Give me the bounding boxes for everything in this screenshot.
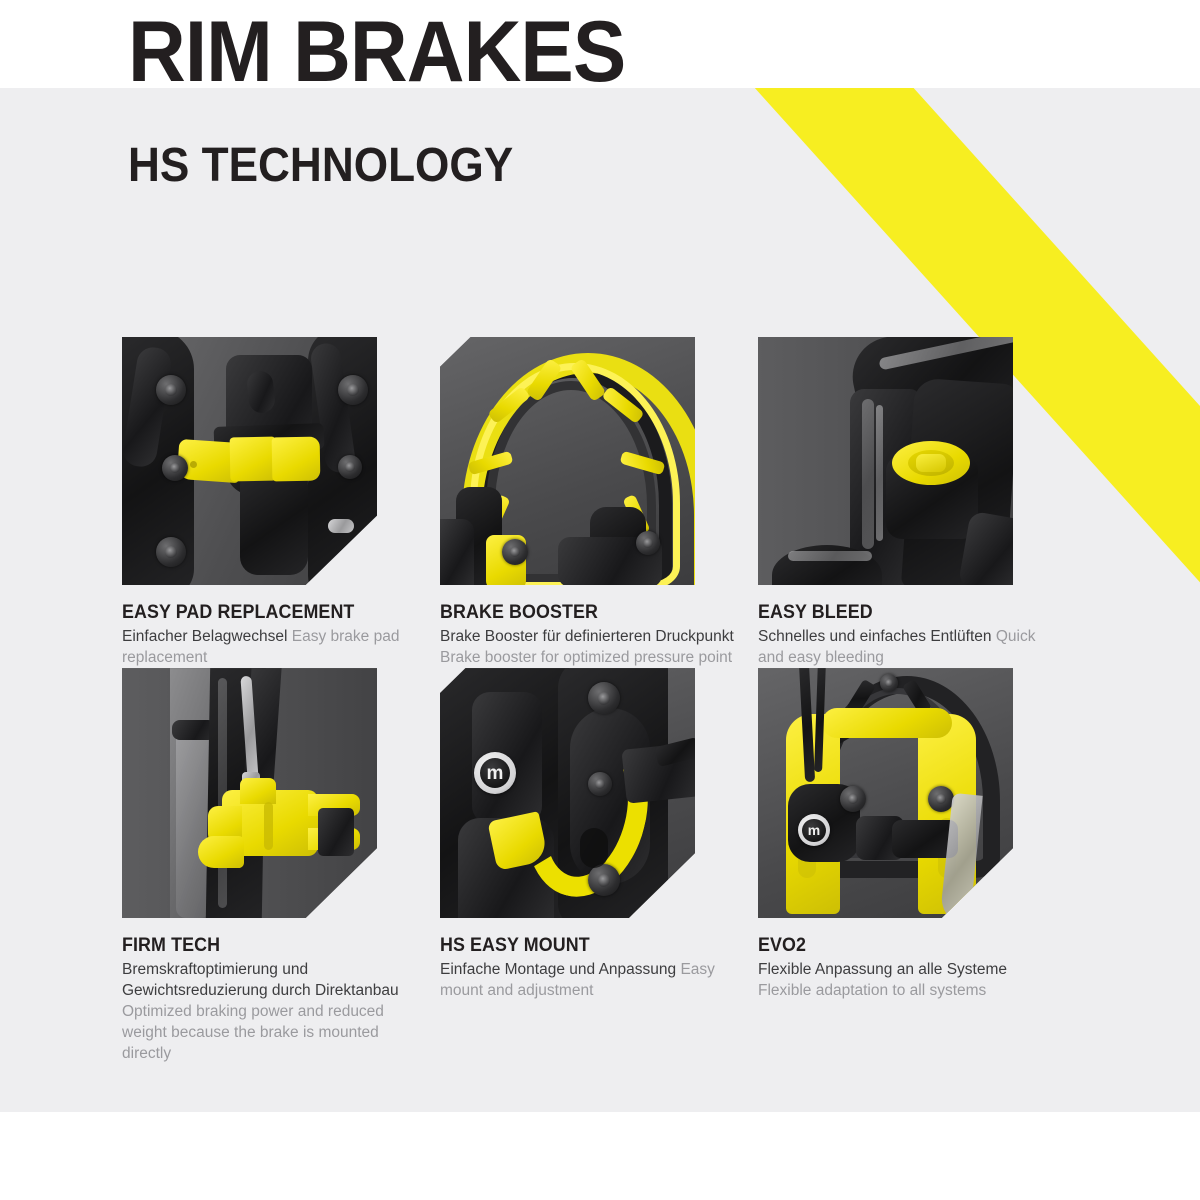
illustration-easy-mount-lever: m <box>440 668 695 918</box>
feature-description: Einfacher Belagwechsel Easy brake pad re… <box>122 626 422 668</box>
feature-heading: FIRM TECH <box>122 936 404 956</box>
feature-description: Bremskraftoptimierung und Gewichtsreduzi… <box>122 959 422 1064</box>
feature-description-de: Einfache Montage und Anpassung <box>440 961 676 978</box>
feature-caption: EASY PAD REPLACEMENT Einfacher Belagwech… <box>122 585 440 668</box>
feature-grid: EASY PAD REPLACEMENT Einfacher Belagwech… <box>122 337 1082 1064</box>
header-block: RIM BRAKES HS TECHNOLOGY <box>128 10 663 190</box>
feature-image-easy-bleed <box>758 337 1013 585</box>
photo-tile <box>122 337 377 585</box>
feature-image-evo2: m <box>758 668 1013 918</box>
magura-m-logo: m <box>798 814 830 846</box>
illustration-evo2-brake: m <box>758 668 1013 918</box>
feature-heading: EASY PAD REPLACEMENT <box>122 603 404 623</box>
feature-description-de: Schnelles und einfaches Entlüften <box>758 628 992 645</box>
feature-card-easy-bleed: EASY BLEED Schnelles und einfaches Entlü… <box>758 337 1076 668</box>
photo-tile <box>122 668 377 918</box>
feature-caption: HS EASY MOUNT Einfache Montage und Anpas… <box>440 918 758 1001</box>
feature-caption: EASY BLEED Schnelles und einfaches Entlü… <box>758 585 1076 668</box>
magura-m-logo: m <box>474 752 516 794</box>
feature-description-en: Brake booster for optimized pressure poi… <box>440 649 732 666</box>
feature-card-hs-easy-mount: m HS EASY MOUNT Einf <box>440 668 758 1064</box>
feature-heading: BRAKE BOOSTER <box>440 603 722 623</box>
feature-description-en: Optimized braking power and reduced weig… <box>122 1003 384 1062</box>
feature-description-en: Flexible adaptation to all systems <box>758 982 986 999</box>
feature-description: Schnelles und einfaches Entlüften Quick … <box>758 626 1058 668</box>
feature-card-easy-pad-replacement: EASY PAD REPLACEMENT Einfacher Belagwech… <box>122 337 440 668</box>
feature-description-de: Brake Booster für definierteren Druckpun… <box>440 628 734 645</box>
feature-image-easy-pad-replacement <box>122 337 377 585</box>
feature-description-de: Bremskraftoptimierung und Gewichtsreduzi… <box>122 961 399 999</box>
feature-caption: BRAKE BOOSTER Brake Booster für definier… <box>440 585 758 668</box>
feature-image-brake-booster <box>440 337 695 585</box>
feature-description: Flexible Anpassung an alle Systeme Flexi… <box>758 959 1058 1001</box>
feature-caption: FIRM TECH Bremskraftoptimierung und Gewi… <box>122 918 440 1064</box>
illustration-fork-crown-bleed-port <box>758 337 1013 585</box>
photo-tile <box>758 337 1013 585</box>
feature-description-de: Einfacher Belagwechsel <box>122 628 287 645</box>
feature-image-firm-tech <box>122 668 377 918</box>
illustration-brake-booster <box>440 337 695 585</box>
feature-heading: EASY BLEED <box>758 603 1040 623</box>
feature-description-de: Flexible Anpassung an alle Systeme <box>758 961 1007 978</box>
feature-card-evo2: m EVO2 Flexible Anpassung an alle System… <box>758 668 1076 1064</box>
page-title: RIM BRAKES <box>128 10 625 94</box>
infographic-root: RIM BRAKES HS TECHNOLOGY <box>0 0 1200 1200</box>
feature-image-hs-easy-mount: m <box>440 668 695 918</box>
photo-tile: m <box>758 668 1013 918</box>
feature-caption: EVO2 Flexible Anpassung an alle Systeme … <box>758 918 1076 1001</box>
feature-card-firm-tech: FIRM TECH Bremskraftoptimierung und Gewi… <box>122 668 440 1064</box>
photo-tile <box>440 337 695 585</box>
photo-tile: m <box>440 668 695 918</box>
feature-heading: HS EASY MOUNT <box>440 936 722 956</box>
feature-description: Brake Booster für definierteren Druckpun… <box>440 626 740 668</box>
page-subtitle: HS TECHNOLOGY <box>128 142 620 190</box>
illustration-direct-mount-clamp <box>122 668 377 918</box>
feature-heading: EVO2 <box>758 936 1040 956</box>
feature-card-brake-booster: BRAKE BOOSTER Brake Booster für definier… <box>440 337 758 668</box>
feature-description: Einfache Montage und Anpassung Easy moun… <box>440 959 740 1001</box>
illustration-rim-brake-caliper <box>122 337 377 585</box>
